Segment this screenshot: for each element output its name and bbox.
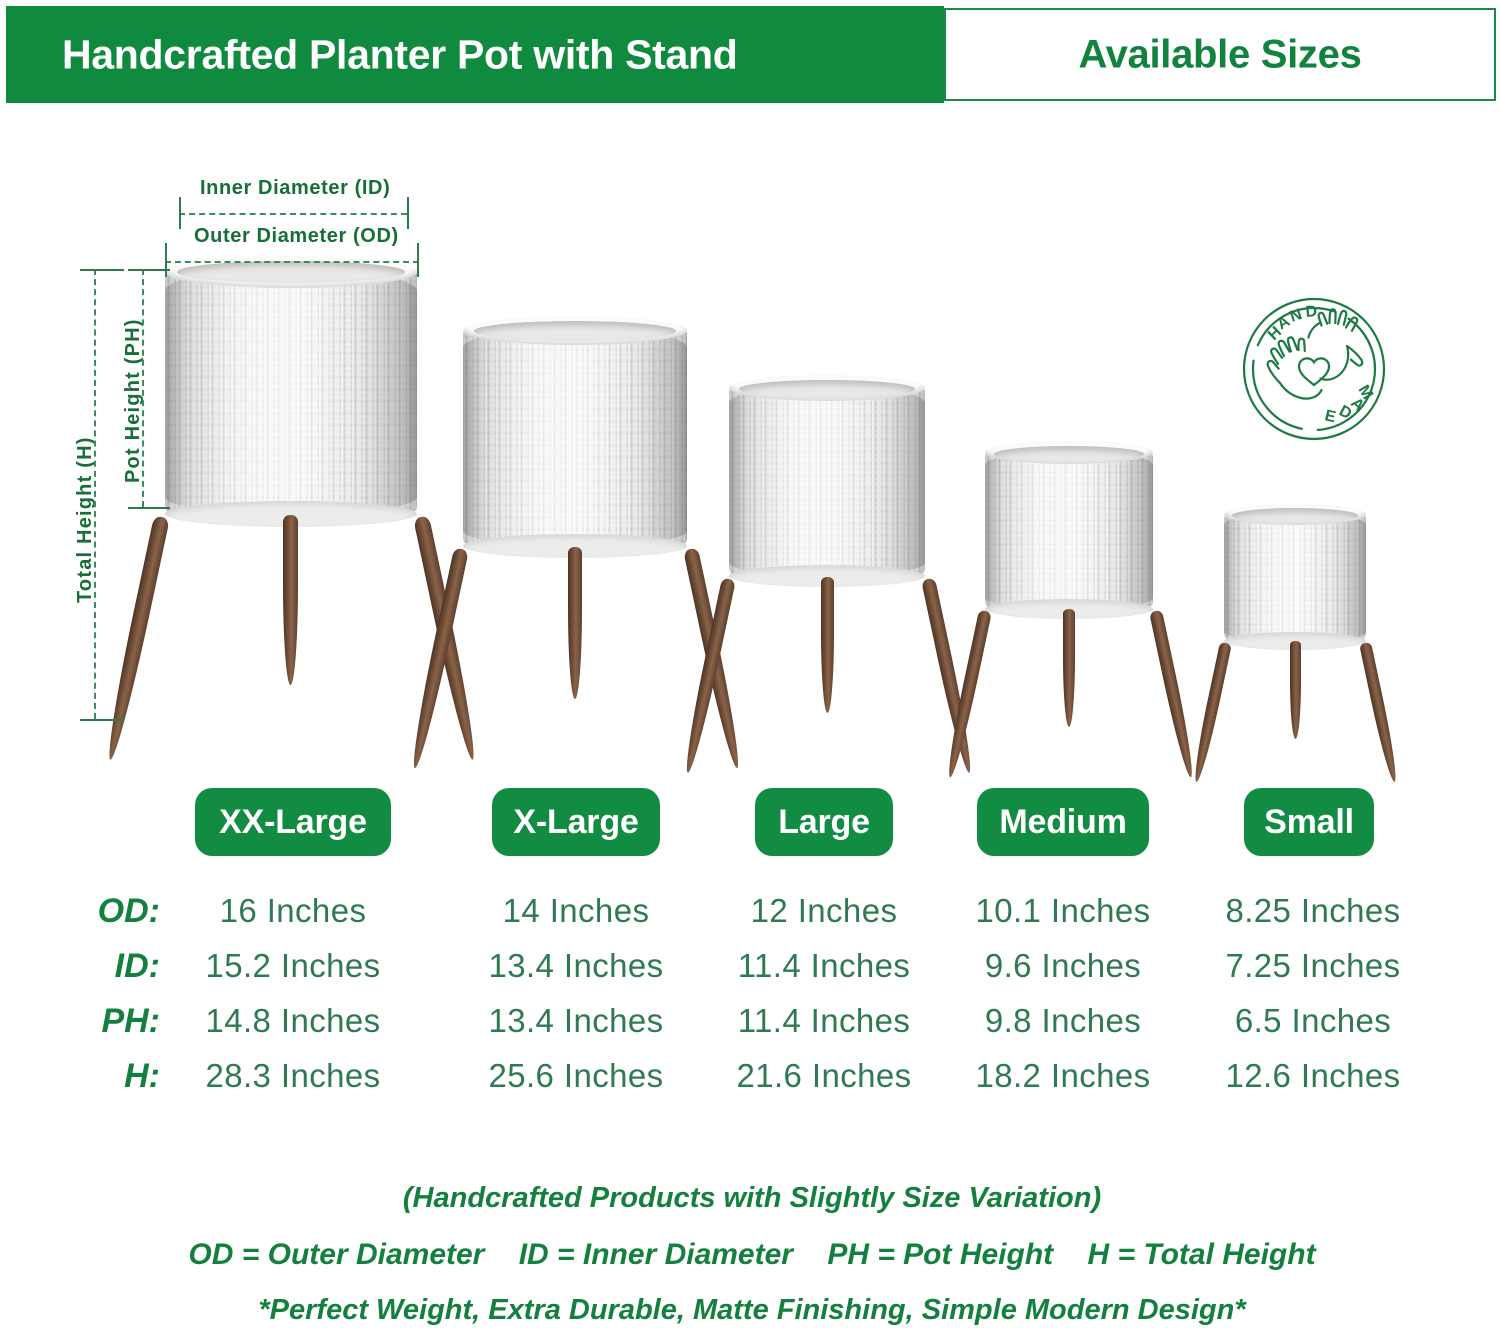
product-tagline: *Perfect Weight, Extra Durable, Matte Fi… (2, 1294, 1500, 1327)
size-pill-large[interactable]: Large (755, 788, 893, 856)
cell-ph-large: 11.4 Inches (699, 996, 949, 1046)
table-row-ph: PH: 14.8 Inches 13.4 Inches 11.4 Inches … (2, 996, 1500, 1050)
cell-od-small: 8.25 Inches (1188, 886, 1438, 936)
pot-height-tick-top (128, 269, 170, 271)
outer-diameter-label: Outer Diameter (OD) (194, 225, 399, 248)
leg-center (568, 547, 582, 699)
badge-bottom-text: E (1323, 407, 1338, 426)
pot-xx-large (165, 269, 417, 514)
cell-od-medium: 10.1 Inches (938, 886, 1188, 936)
cell-ph-xx-large: 14.8 Inches (168, 996, 418, 1046)
row-label-od: OD: (2, 886, 160, 936)
header: Handcrafted Planter Pot with Stand Avail… (6, 6, 1498, 103)
cell-h-xx-large: 28.3 Inches (168, 1051, 418, 1101)
cell-id-x-large: 13.4 Inches (451, 941, 701, 991)
legend-id: ID = Inner Diameter (519, 1238, 793, 1271)
row-label-ph: PH: (2, 996, 160, 1046)
specification-table: OD: 16 Inches 14 Inches 12 Inches 10.1 I… (2, 886, 1500, 1118)
total-height-tick-top (80, 269, 124, 271)
planter-x-large (463, 328, 687, 790)
inner-diameter-tick-left (179, 197, 181, 229)
size-pill-small[interactable]: Small (1244, 788, 1374, 856)
pot-large (729, 386, 925, 576)
size-pill-label: XX-Large (219, 803, 367, 842)
cell-od-x-large: 14 Inches (451, 886, 701, 936)
pot-small (1224, 513, 1366, 641)
cell-id-xx-large: 15.2 Inches (168, 941, 418, 991)
badge-bottom-text: D (1336, 403, 1354, 423)
cell-h-x-large: 25.6 Inches (451, 1051, 701, 1101)
page-title: Handcrafted Planter Pot with Stand (62, 31, 738, 78)
leg-left (103, 515, 170, 761)
handmade-badge: H A N D M A D E (1234, 289, 1394, 449)
basket-weave-texture (165, 269, 417, 514)
pot-height-tick-bottom (128, 507, 170, 509)
header-title-bar: Handcrafted Planter Pot with Stand (6, 6, 944, 103)
outer-diameter-tick-left (165, 243, 167, 277)
header-subtitle-box: Available Sizes (944, 8, 1496, 101)
available-sizes-label: Available Sizes (946, 32, 1494, 77)
basket-weave-texture (729, 386, 925, 576)
pot-inner-opening (739, 380, 915, 398)
total-height-dash-line (94, 269, 96, 719)
cell-ph-small: 6.5 Inches (1188, 996, 1438, 1046)
basket-weave-texture (1224, 513, 1366, 641)
row-label-id: ID: (2, 941, 160, 991)
legend-ph: PH = Pot Height (827, 1238, 1053, 1271)
table-row-id: ID: 15.2 Inches 13.4 Inches 11.4 Inches … (2, 941, 1500, 995)
total-height-tick-bottom (80, 719, 124, 721)
variation-note: (Handcrafted Products with Slightly Size… (2, 1182, 1500, 1215)
legend-h: H = Total Height (1088, 1238, 1316, 1271)
infographic-page: Handcrafted Planter Pot with Stand Avail… (0, 0, 1500, 1328)
pot-height-dash-line (142, 269, 144, 507)
size-pill-row: XX-Large X-Large Large Medium Small (2, 788, 1500, 862)
leg-center (1063, 609, 1075, 727)
leg-center (821, 577, 834, 713)
leg-center (1290, 641, 1301, 739)
product-illustration-stage: Inner Diameter (ID) Outer Diameter (OD) … (2, 103, 1500, 769)
cell-id-large: 11.4 Inches (699, 941, 949, 991)
cell-h-large: 21.6 Inches (699, 1051, 949, 1101)
size-pill-label: Medium (999, 803, 1126, 842)
planter-large (729, 386, 925, 789)
abbreviation-legend: OD = Outer Diameter ID = Inner Diameter … (2, 1238, 1500, 1272)
cell-od-xx-large: 16 Inches (168, 886, 418, 936)
planter-xx-large (165, 269, 417, 789)
inner-diameter-dash-line (179, 213, 407, 215)
cell-ph-medium: 9.8 Inches (938, 996, 1188, 1046)
cell-od-large: 12 Inches (699, 886, 949, 936)
pot-x-large (463, 328, 687, 546)
planter-medium (985, 451, 1153, 789)
size-pill-label: Large (778, 803, 870, 842)
outer-diameter-tick-right (417, 243, 419, 277)
size-pill-xx-large[interactable]: XX-Large (195, 788, 391, 856)
cell-h-small: 12.6 Inches (1188, 1051, 1438, 1101)
size-pill-label: Small (1264, 803, 1354, 842)
leg-right (1149, 610, 1197, 779)
leg-left (1191, 642, 1232, 783)
size-pill-x-large[interactable]: X-Large (492, 788, 660, 856)
pot-inner-opening (1232, 508, 1358, 523)
outer-diameter-dash-line (165, 261, 419, 263)
inner-diameter-label: Inner Diameter (ID) (200, 177, 390, 200)
legend-od: OD = Outer Diameter (188, 1238, 484, 1271)
badge-top-text: D (1305, 303, 1318, 321)
size-pill-medium[interactable]: Medium (977, 788, 1149, 856)
cell-id-medium: 9.6 Inches (938, 941, 1188, 991)
cell-ph-x-large: 13.4 Inches (451, 996, 701, 1046)
leg-center (283, 515, 298, 685)
pot-inner-opening (177, 261, 405, 283)
table-row-h: H: 28.3 Inches 25.6 Inches 21.6 Inches 1… (2, 1051, 1500, 1105)
basket-weave-texture (985, 451, 1153, 609)
pot-inner-opening (474, 321, 676, 341)
pot-medium (985, 451, 1153, 609)
leg-right (1359, 642, 1400, 783)
planter-small (1224, 513, 1366, 790)
size-pill-label: X-Large (513, 803, 638, 842)
cell-h-medium: 18.2 Inches (938, 1051, 1188, 1101)
pot-inner-opening (994, 446, 1144, 462)
cell-id-small: 7.25 Inches (1188, 941, 1438, 991)
inner-diameter-tick-right (407, 197, 409, 229)
row-label-h: H: (2, 1051, 160, 1101)
table-row-od: OD: 16 Inches 14 Inches 12 Inches 10.1 I… (2, 886, 1500, 940)
basket-weave-texture (463, 328, 687, 546)
